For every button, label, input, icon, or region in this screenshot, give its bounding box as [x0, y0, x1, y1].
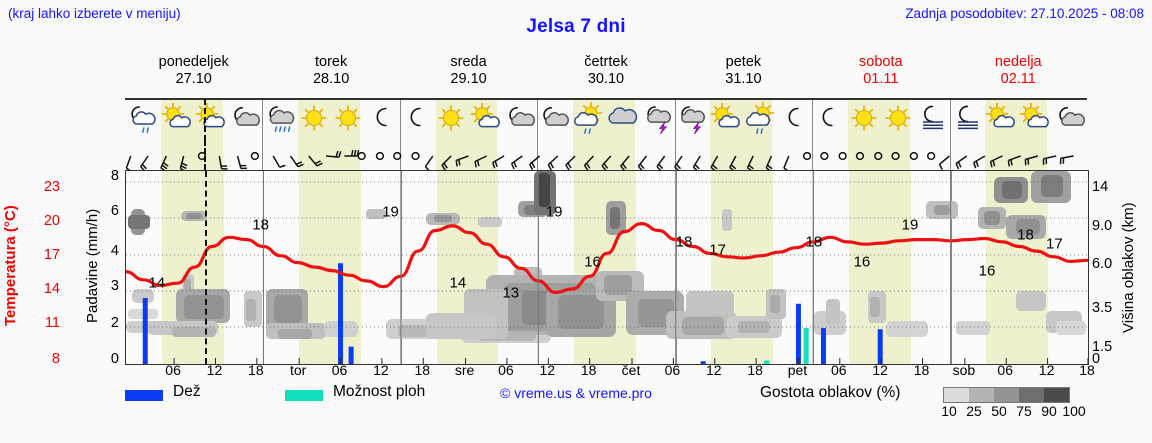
weather-icon-moon [812, 102, 846, 136]
rain-swatch [125, 390, 163, 401]
cloud-density-label: 100 [1062, 403, 1085, 419]
cloud-height-tick: 9.0 [1092, 218, 1128, 234]
weather-icon-cloud [606, 102, 640, 136]
cloud-height-tick: 0 [1092, 351, 1128, 367]
weather-icon-moon-cloud [228, 102, 262, 136]
day-date: 30.10 [537, 71, 674, 88]
weather-icon-moon-thunder [675, 102, 709, 136]
weather-icon-moon-rain [125, 102, 159, 136]
x-tick-label: pet [788, 362, 807, 378]
temperature-value-label: 19 [902, 217, 919, 234]
precipitation-tick: 2 [103, 315, 119, 331]
weather-icon-sun [881, 102, 915, 136]
x-tick-label: 18 [414, 362, 430, 378]
weather-icon-sun [434, 102, 468, 136]
temperature-ticks: 23201714118 [26, 170, 60, 363]
wind-barb-strip [125, 140, 1087, 170]
x-tick-label: 06 [165, 362, 181, 378]
x-axis-labels: 061218tor061218sre061218čet061218pet0612… [125, 362, 1087, 380]
day-date: 31.10 [675, 71, 812, 88]
day-date: 29.10 [400, 71, 537, 88]
precipitation-tick: 4 [103, 243, 119, 259]
x-tick-label: 18 [1079, 362, 1095, 378]
cloud-density-step [994, 388, 1019, 402]
weather-icon-moon [400, 102, 434, 136]
cloud-height-tick: 6.0 [1092, 256, 1128, 272]
precipitation-tick: 8 [103, 168, 119, 184]
temperature-value-label: 16 [854, 253, 871, 270]
temperature-value-label: 14 [450, 274, 467, 291]
x-tick-label: 18 [248, 362, 264, 378]
weather-icon-moon [778, 102, 812, 136]
temperature-tick: 11 [30, 315, 60, 331]
day-header-0: ponedeljek27.10 [125, 54, 262, 96]
cloud-density-step [944, 388, 969, 402]
weather-icon-moon [366, 102, 400, 136]
x-tick-label: sre [455, 362, 474, 378]
meteogram-plot: 141814191319161817181619161817 [125, 170, 1089, 365]
weather-icon-sun-cloud [160, 102, 194, 136]
last-update-text: Zadnja posodobitev: 27.10.2025 - 08:08 [905, 6, 1144, 21]
x-tick-label: 06 [665, 362, 681, 378]
cloud-density-step [1044, 388, 1069, 402]
temperature-tick: 23 [30, 179, 60, 195]
weather-icon-strip [125, 98, 1087, 141]
cloud-density-legend-title: Gostota oblakov (%) [760, 384, 900, 402]
temperature-value-label: 17 [1046, 236, 1063, 253]
chart-legend: Dež Možnost ploh © vreme.us & vreme.pro … [125, 385, 1135, 425]
weather-icon-sun [297, 102, 331, 136]
day-date: 01.11 [812, 71, 949, 88]
cloud-density-label: 25 [966, 403, 982, 419]
day-name: ponedeljek [125, 54, 262, 71]
day-date: 27.10 [125, 71, 262, 88]
cloud-height-tick: 3.5 [1092, 300, 1128, 316]
weather-icon-sun-cloud [469, 102, 503, 136]
rain-legend-label: Dež [173, 383, 201, 401]
x-tick-label: 18 [914, 362, 930, 378]
day-name: sreda [400, 54, 537, 71]
x-tick-label: tor [290, 362, 306, 378]
precipitation-tick: 6 [103, 203, 119, 219]
x-tick-label: 06 [498, 362, 514, 378]
x-tick-label: 12 [540, 362, 556, 378]
temperature-value-label: 19 [546, 203, 563, 220]
x-tick-label: 18 [581, 362, 597, 378]
weather-icon-moon-cloud-rain [263, 102, 297, 136]
day-name: nedelja [950, 54, 1087, 71]
day-name: petek [675, 54, 812, 71]
weather-icon-moon-fog [915, 102, 949, 136]
x-tick-label: 12 [1039, 362, 1055, 378]
day-header-row: ponedeljek27.10torek28.10sreda29.10četrt… [125, 54, 1087, 96]
temperature-value-label: 17 [709, 242, 726, 259]
showers-swatch [285, 390, 323, 401]
weather-icon-sun-cloud [1018, 102, 1052, 136]
day-header-4: petek31.10 [675, 54, 812, 96]
weather-icon-moon-cloud [503, 102, 537, 136]
day-date: 02.11 [950, 71, 1087, 88]
x-tick-label: 12 [207, 362, 223, 378]
temperature-labels: 141814191319161817181619161817 [126, 171, 1088, 364]
current-time-marker [204, 140, 206, 170]
cloud-density-scale [943, 387, 1070, 403]
temperature-tick: 8 [30, 351, 60, 367]
cloud-height-tick: 14 [1092, 179, 1128, 195]
temperature-value-label: 18 [676, 234, 693, 251]
x-tick-label: 18 [747, 362, 763, 378]
day-date: 28.10 [262, 71, 399, 88]
weather-icon-sun-cloud [194, 102, 228, 136]
x-tick-label: 12 [706, 362, 722, 378]
temperature-axis-title: Temperatura (°C) [2, 178, 19, 353]
weather-icon-sun-cloud [984, 102, 1018, 136]
weather-icon-sun [331, 102, 365, 136]
weather-icon-moon-thunder [641, 102, 675, 136]
precipitation-ticks: 864320 [101, 170, 119, 363]
temperature-tick: 20 [30, 213, 60, 229]
day-name: sobota [812, 54, 949, 71]
day-header-5: sobota01.11 [812, 54, 949, 96]
weather-icon-moon-cloud [1053, 102, 1087, 136]
current-time-marker [205, 171, 207, 364]
x-tick-label: 12 [872, 362, 888, 378]
temperature-value-label: 14 [148, 274, 165, 291]
weather-icon-sun-cloud-drizzle [744, 102, 778, 136]
temperature-tick: 14 [30, 281, 60, 297]
cloud-density-label: 75 [1016, 403, 1032, 419]
weather-icon-sun-cloud-drizzle [572, 102, 606, 136]
weather-icon-sun-cloud [709, 102, 743, 136]
temperature-value-label: 18 [805, 234, 822, 251]
cloud-density-step [1019, 388, 1044, 402]
cloud-density-step [969, 388, 994, 402]
icon-strip-top-border [125, 99, 1087, 100]
cloud-height-ticks: 149.06.03.51.50 [1092, 170, 1130, 363]
x-tick-label: 06 [831, 362, 847, 378]
cloud-density-label: 90 [1041, 403, 1057, 419]
temperature-value-label: 16 [584, 253, 601, 270]
temperature-value-label: 18 [1017, 226, 1034, 243]
cloud-density-label: 10 [941, 403, 957, 419]
day-name: torek [262, 54, 399, 71]
precipitation-tick: 0 [103, 351, 119, 367]
temperature-value-label: 16 [979, 263, 996, 280]
x-tick-label: čet [622, 362, 641, 378]
temperature-value-label: 13 [502, 284, 519, 301]
x-tick-label: sob [953, 362, 976, 378]
day-header-1: torek28.10 [262, 54, 399, 96]
cloud-density-label: 50 [991, 403, 1007, 419]
temperature-value-label: 19 [382, 203, 399, 220]
day-header-3: četrtek30.10 [537, 54, 674, 96]
weather-icon-moon-cloud [537, 102, 571, 136]
x-tick-label: 06 [997, 362, 1013, 378]
wind-barbs [125, 140, 1087, 170]
x-tick-label: 12 [373, 362, 389, 378]
current-time-marker [204, 99, 206, 141]
precipitation-axis-title: Padavine (mm/h) [84, 178, 101, 353]
day-header-2: sreda29.10 [400, 54, 537, 96]
temperature-tick: 17 [30, 247, 60, 263]
x-tick-label: 06 [332, 362, 348, 378]
showers-legend-label: Možnost ploh [333, 383, 425, 401]
weather-icon-moon-fog [950, 102, 984, 136]
weather-icons [125, 99, 1087, 141]
copyright-text: © vreme.us & vreme.pro [500, 385, 652, 401]
day-header-6: nedelja02.11 [950, 54, 1087, 96]
precipitation-tick: 3 [103, 278, 119, 294]
temperature-value-label: 18 [252, 217, 269, 234]
weather-icon-sun [847, 102, 881, 136]
day-name: četrtek [537, 54, 674, 71]
